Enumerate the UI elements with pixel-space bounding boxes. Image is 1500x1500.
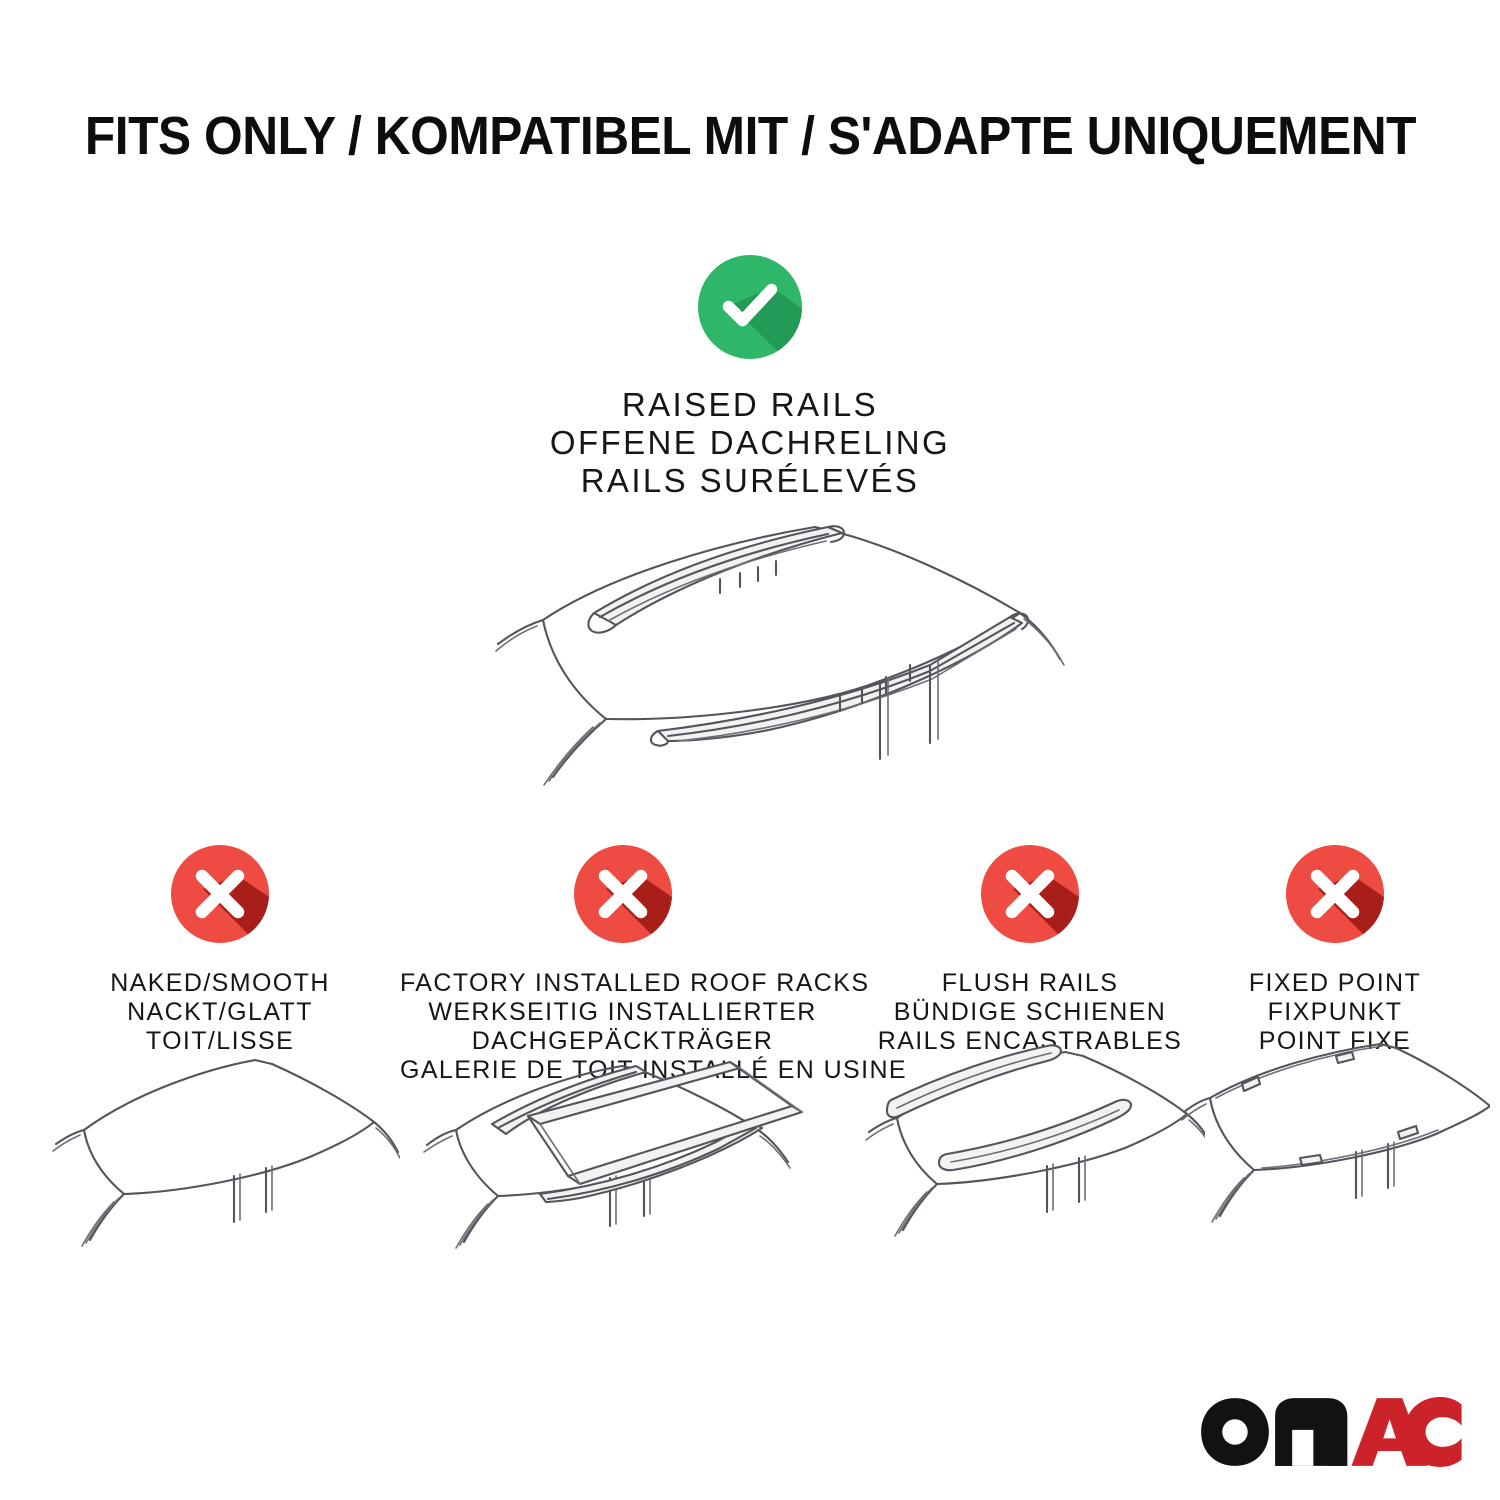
- incompatible-label-en: FLUSH RAILS: [855, 969, 1205, 998]
- car-roof-raised-rails-illustration: [410, 505, 1090, 835]
- incompatible-item-flush-rails: FLUSH RAILS BÜNDIGE SCHIENEN RAILS ENCAS…: [855, 845, 1205, 1056]
- cross-circle-icon: [981, 845, 1079, 943]
- incompatible-label-en: FACTORY INSTALLED ROOF RACKS: [400, 969, 845, 998]
- cross-circle-icon: [1286, 845, 1384, 943]
- car-roof-fixed-point-illustration: [1180, 1040, 1490, 1255]
- incompatible-item-factory-racks: FACTORY INSTALLED ROOF RACKS WERKSEITIG …: [400, 845, 845, 1085]
- compatible-label-fr: RAILS SURÉLEVÉS: [0, 462, 1500, 500]
- compatible-section: RAISED RAILS OFFENE DACHRELING RAILS SUR…: [0, 255, 1500, 500]
- car-roof-naked-smooth-illustration: [40, 1040, 400, 1255]
- omac-logo: [1199, 1396, 1462, 1468]
- incompatible-label-de: BÜNDIGE SCHIENEN: [855, 998, 1205, 1027]
- logo-letter-m: [1276, 1398, 1348, 1466]
- page-title: FITS ONLY / KOMPATIBEL MIT / S'ADAPTE UN…: [0, 104, 1500, 168]
- incompatible-section: NAKED/SMOOTH NACKT/GLATT TOIT/LISSE: [0, 845, 1500, 1465]
- fitment-infographic: FITS ONLY / KOMPATIBEL MIT / S'ADAPTE UN…: [0, 0, 1500, 1500]
- incompatible-label-de-1: WERKSEITIG INSTALLIERTER: [400, 998, 845, 1027]
- incompatible-label-en: FIXED POINT: [1180, 969, 1490, 998]
- cross-circle-icon: [171, 845, 269, 943]
- cross-circle-icon: [574, 845, 672, 943]
- compatible-label-en: RAISED RAILS: [0, 386, 1500, 424]
- incompatible-item-naked-smooth: NAKED/SMOOTH NACKT/GLATT TOIT/LISSE: [40, 845, 400, 1056]
- car-roof-factory-racks-illustration: [400, 1060, 845, 1275]
- compatible-label-group: RAISED RAILS OFFENE DACHRELING RAILS SUR…: [0, 386, 1500, 500]
- logo-letter-o: [1202, 1398, 1270, 1466]
- incompatible-label-de: NACKT/GLATT: [40, 998, 400, 1027]
- incompatible-label-de: FIXPUNKT: [1180, 998, 1490, 1027]
- compatible-label-de: OFFENE DACHRELING: [0, 424, 1500, 462]
- car-roof-flush-rails-illustration: [855, 1040, 1205, 1255]
- incompatible-label-de-2: DACHGEPÄCKTRÄGER: [400, 1027, 845, 1056]
- check-circle-icon: [698, 255, 802, 359]
- incompatible-item-fixed-point: FIXED POINT FIXPUNKT POINT FIXE: [1180, 845, 1490, 1056]
- page-title-text: FITS ONLY / KOMPATIBEL MIT / S'ADAPTE UN…: [84, 107, 1415, 165]
- incompatible-label-en: NAKED/SMOOTH: [40, 969, 400, 998]
